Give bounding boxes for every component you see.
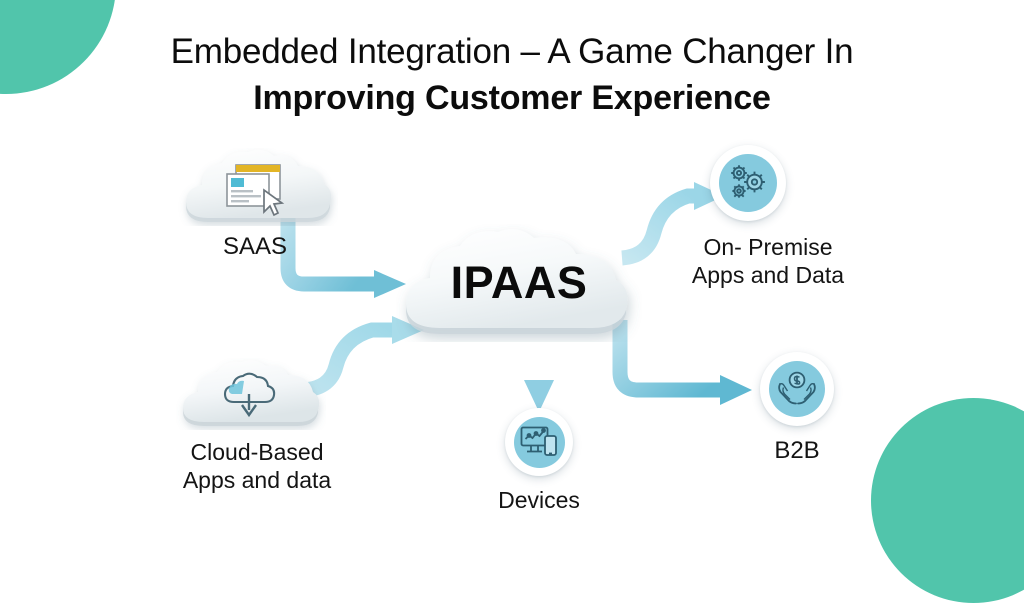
node-cloud-based-label: Cloud-Based Apps and data [162, 438, 352, 494]
node-on-premise-label: On- Premise Apps and Data [678, 233, 858, 289]
decorative-corner-bottom-right [871, 398, 1024, 603]
title-line-2: Improving Customer Experience [0, 77, 1024, 120]
diagram-canvas: Embedded Integration – A Game Changer In… [0, 0, 1024, 535]
ipaas-hub[interactable]: IPAAS [396, 224, 642, 342]
devices-icon-circle [505, 408, 573, 476]
title-line-1: Embedded Integration – A Game Changer In [0, 32, 1024, 73]
monitor-phone-icon [520, 425, 558, 459]
ipaas-hub-label: IPAAS [396, 257, 642, 309]
hands-holding-coin-icon [776, 370, 818, 408]
node-b2b-label: B2B [716, 436, 878, 465]
node-devices[interactable]: Devices [468, 408, 610, 514]
node-saas[interactable]: SAAS [178, 148, 338, 261]
b2b-icon-circle [760, 352, 834, 426]
node-on-premise[interactable]: On- Premise Apps and Data [678, 145, 858, 289]
node-b2b[interactable]: B2B [716, 352, 878, 465]
node-devices-label: Devices [468, 486, 610, 514]
gear-filled [744, 172, 765, 193]
saas-cloud-shape [178, 148, 338, 226]
node-cloud-based[interactable]: Cloud-Based Apps and data [162, 358, 352, 494]
page-title: Embedded Integration – A Game Changer In… [0, 32, 1024, 119]
cloud-based-cloud-shape [162, 358, 352, 430]
node-saas-label: SAAS [172, 232, 338, 261]
gears-icon [727, 162, 769, 204]
on-premise-icon-circle [710, 145, 786, 221]
arrow-ipaas-to-devices [524, 336, 554, 412]
